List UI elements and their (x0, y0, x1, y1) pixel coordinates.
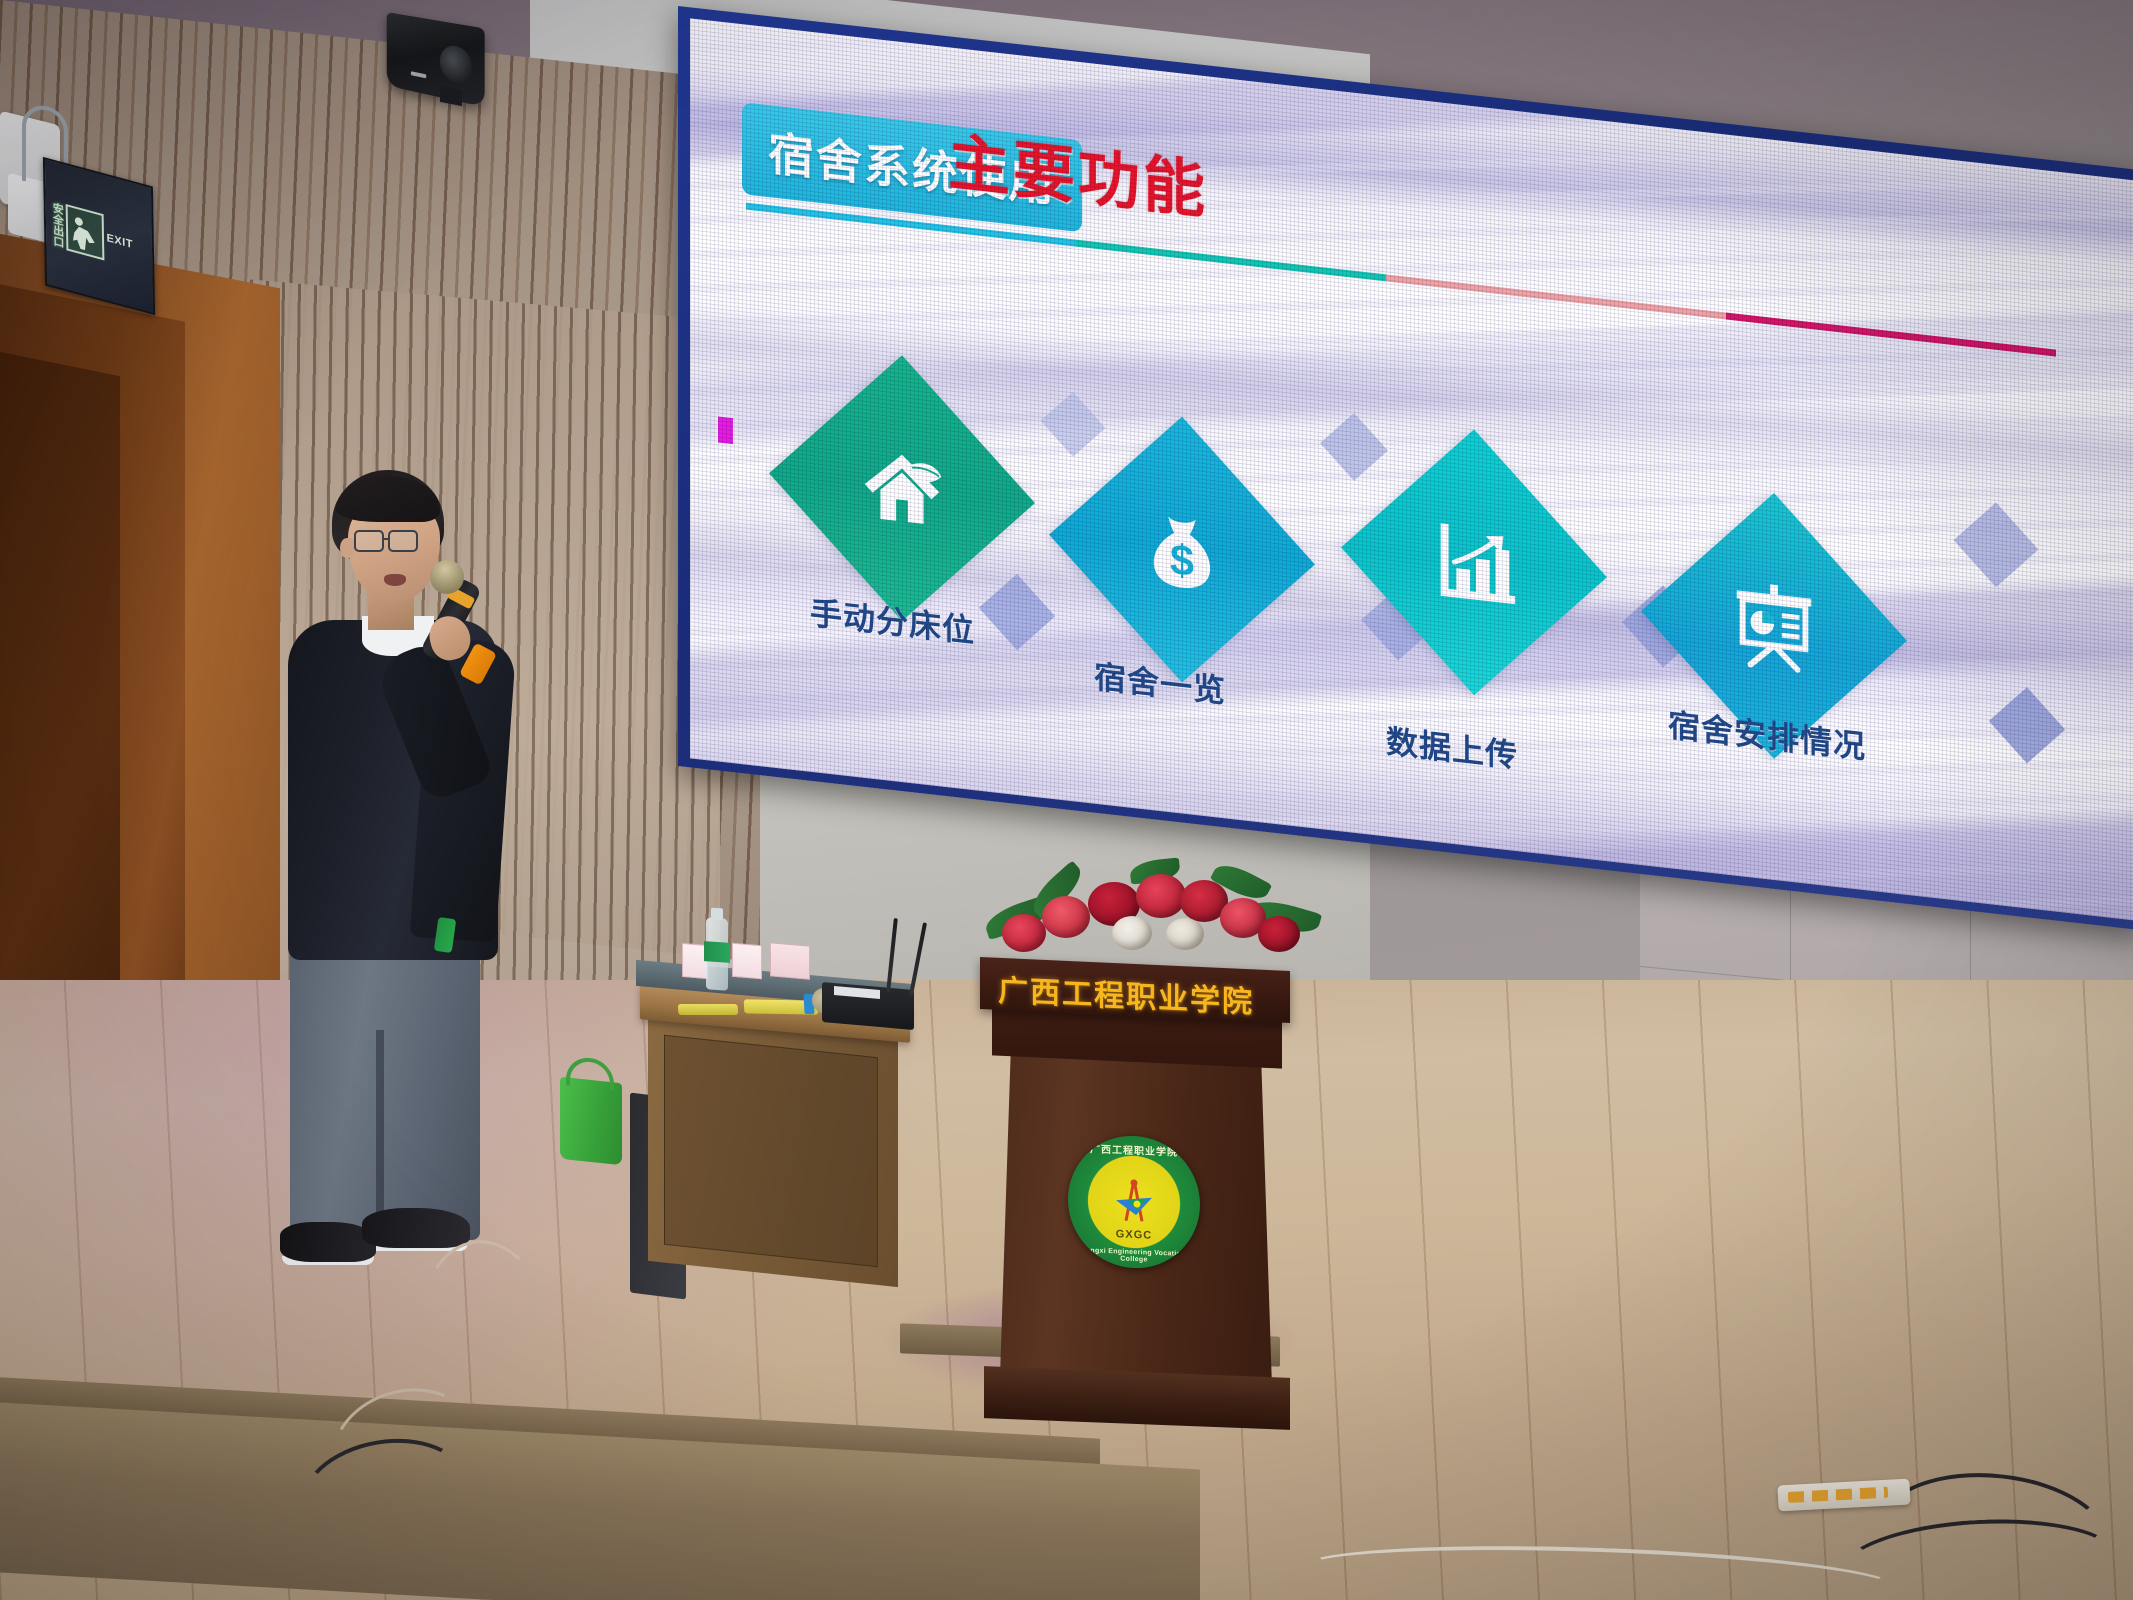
handheld-microphone-secondary (678, 1004, 739, 1015)
presenter-mouth (384, 574, 406, 586)
led-screen-surface: 宿舍系统使用 主要功能 (690, 18, 2133, 922)
presenter-leg-gap (376, 1030, 384, 1240)
feature-diamond-data-upload (1341, 429, 1607, 695)
money-bag-icon: $ (1133, 495, 1231, 604)
rule-segment-teal (1076, 240, 1386, 282)
rule-segment-magenta (1726, 313, 2056, 357)
decorative-diamond (1989, 687, 2065, 763)
decorative-diamond (1320, 413, 1388, 481)
presenter-legs (290, 940, 480, 1240)
svg-text:$: $ (1170, 536, 1194, 587)
feature-label-manual-bed-assignment: 手动分床位 (810, 588, 975, 653)
running-person-exit-icon (65, 204, 104, 260)
presentation-slide: 宿舍系统使用 主要功能 (690, 18, 2133, 922)
glasses-lens-right (388, 530, 418, 552)
auditorium-scene: 安全出口 EXIT 宿舍系统使用 主要功能 (0, 0, 2133, 1600)
decorative-diamond (979, 574, 1055, 650)
paper-card (732, 943, 762, 980)
paper-card (770, 942, 810, 979)
feature-diamond-dorm-overview: $ (1049, 417, 1315, 683)
presenter-shoe-right (362, 1208, 470, 1248)
college-emblem: 广西工程职业学院 GXGC Guangxi Engineering Vocati… (1068, 1133, 1200, 1270)
rule-segment-pink (1386, 274, 1726, 319)
growth-bar-chart-icon (1425, 508, 1523, 617)
decorative-diamond (1954, 502, 2039, 587)
exit-sign-chinese-label: 安全出口 (51, 201, 63, 248)
stuck-pixel (718, 416, 733, 444)
feature-diamond-manual-bed-assignment (769, 355, 1035, 621)
speaker-brand-badge (411, 71, 426, 78)
presenter-ear (340, 538, 354, 558)
presenter (280, 470, 600, 1120)
house-leaf-icon (853, 434, 951, 543)
glasses-bridge (384, 538, 390, 540)
exit-sign-english-label: EXIT (106, 232, 133, 251)
glasses-lens-left (354, 530, 384, 552)
presentation-board-icon (1725, 571, 1823, 680)
feature-label-data-upload: 数据上传 (1386, 716, 1518, 777)
emblem-abbreviation: GXGC (1088, 1227, 1180, 1243)
decorative-diamond (1040, 392, 1105, 457)
title-divider-rule (746, 203, 2056, 357)
feature-label-dorm-arrangement: 宿舍安排情况 (1668, 700, 1866, 768)
side-table-panel (664, 1035, 878, 1267)
compass-divider-icon (1106, 1176, 1162, 1228)
emblem-inner-disc: GXGC (1088, 1154, 1180, 1250)
water-bottle-label (704, 941, 730, 963)
